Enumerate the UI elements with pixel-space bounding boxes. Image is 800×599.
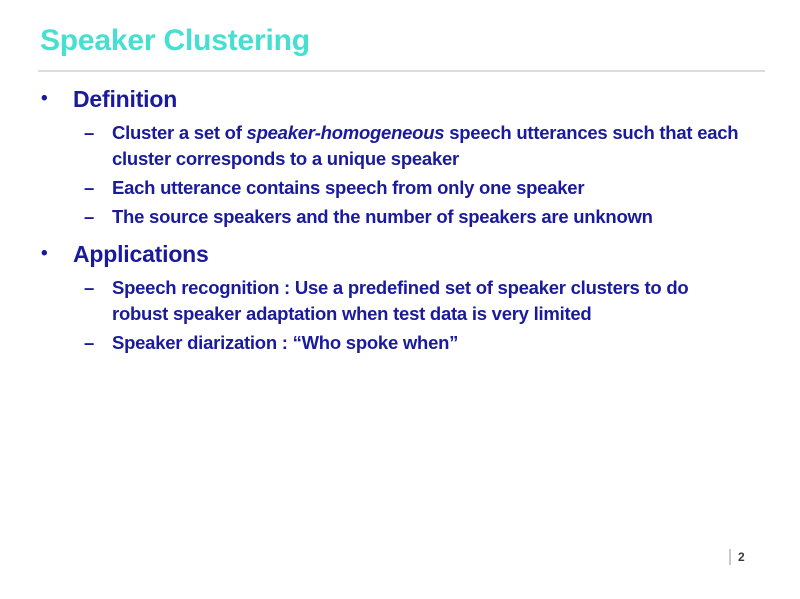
presentation-slide: Speaker Clustering • Definition – Cluste… [0, 0, 800, 599]
bullet-level2-text-part: Speech recognition : Use a predefined se… [112, 277, 688, 324]
bullet-level2-item: – Speech recognition : Use a predefined … [0, 275, 800, 327]
bullet-dot-icon: • [41, 84, 47, 114]
bullet-level1-applications: • Applications [0, 239, 800, 269]
bullet-level1-definition: • Definition [0, 84, 800, 114]
bullet-level1-label: Applications [73, 241, 209, 267]
bullet-level1-label: Definition [73, 86, 177, 112]
bullet-level2-text-part: Speaker diarization : “Who spoke when” [112, 332, 458, 353]
bullet-level2-text-emphasis: speaker-homogeneous [247, 122, 445, 143]
title-divider-rule [38, 70, 765, 72]
page-number: 2 [738, 549, 745, 565]
footer-separator-bar [729, 549, 731, 565]
bullet-level2-item: – The source speakers and the number of … [0, 204, 800, 230]
bullet-dash-icon: – [84, 120, 94, 146]
slide-footer: 2 [729, 548, 745, 566]
bullet-level2-text-part: The source speakers and the number of sp… [112, 206, 653, 227]
bullet-dash-icon: – [84, 330, 94, 356]
bullet-level2-text-part: Cluster a set of [112, 122, 247, 143]
bullet-level2-item: – Cluster a set of speaker-homogeneous s… [0, 120, 800, 172]
bullet-dot-icon: • [41, 239, 47, 269]
bullet-dash-icon: – [84, 175, 94, 201]
bullet-dash-icon: – [84, 204, 94, 230]
bullet-level2-item: – Speaker diarization : “Who spoke when” [0, 330, 800, 356]
bullet-dash-icon: – [84, 275, 94, 301]
slide-title: Speaker Clustering [40, 26, 310, 56]
slide-body: • Definition – Cluster a set of speaker-… [0, 84, 800, 359]
bullet-level2-text-part: Each utterance contains speech from only… [112, 177, 584, 198]
bullet-level2-item: – Each utterance contains speech from on… [0, 175, 800, 201]
